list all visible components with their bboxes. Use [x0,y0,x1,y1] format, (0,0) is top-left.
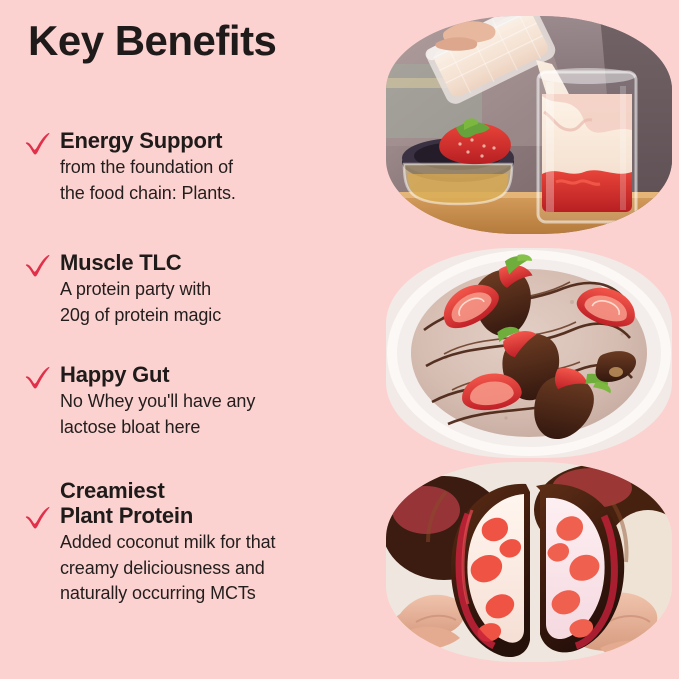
check-icon [24,362,58,390]
benefit-desc-line: naturally occurring MCTs [60,581,369,607]
benefit-description: from the foundation of the food chain: P… [60,155,369,206]
benefit-title-line: Plant Protein [60,503,193,528]
benefit-desc-line: lactose bloat here [60,415,369,441]
benefit-desc-line: from the foundation of [60,155,369,181]
benefit-desc-line: 20g of protein magic [60,303,369,329]
benefit-item-energy-support: Energy Support from the foundation of th… [24,128,369,206]
benefit-title: Creamiest Plant Protein [60,478,369,528]
benefit-title: Muscle TLC [60,250,369,275]
benefit-text: Muscle TLC A protein party with 20g of p… [58,250,369,328]
benefit-desc-line: No Whey you'll have any [60,389,369,415]
benefit-title: Energy Support [60,128,369,153]
benefits-column: Key Benefits Energy Support from the fou… [0,0,375,679]
benefit-item-muscle-tlc: Muscle TLC A protein party with 20g of p… [24,250,369,328]
benefit-title-line: Creamiest [60,478,165,503]
benefit-text: Energy Support from the foundation of th… [58,128,369,206]
benefit-description: No Whey you'll have any lactose bloat he… [60,389,369,440]
benefit-description: Added coconut milk for that creamy delic… [60,530,369,607]
check-icon [24,478,58,530]
benefit-desc-line: creamy deliciousness and [60,556,369,582]
check-icon [24,128,58,156]
benefit-desc-line: A protein party with [60,277,369,303]
photo-smoothie-bowl [386,248,672,458]
check-icon [24,250,58,278]
photo-pouring-smoothie [386,16,672,234]
page-title: Key Benefits [28,20,276,62]
photo-chocolate-strawberry-bites [386,462,672,662]
benefit-title: Happy Gut [60,362,369,387]
benefit-desc-line: the food chain: Plants. [60,181,369,207]
benefit-item-happy-gut: Happy Gut No Whey you'll have any lactos… [24,362,369,440]
key-benefits-infographic: Key Benefits Energy Support from the fou… [0,0,679,679]
benefit-text: Creamiest Plant Protein Added coconut mi… [58,478,369,607]
benefit-desc-line: Added coconut milk for that [60,530,369,556]
benefit-text: Happy Gut No Whey you'll have any lactos… [58,362,369,440]
benefit-item-creamiest-plant-protein: Creamiest Plant Protein Added coconut mi… [24,478,369,607]
benefit-description: A protein party with 20g of protein magi… [60,277,369,328]
product-photo-column [378,0,679,679]
